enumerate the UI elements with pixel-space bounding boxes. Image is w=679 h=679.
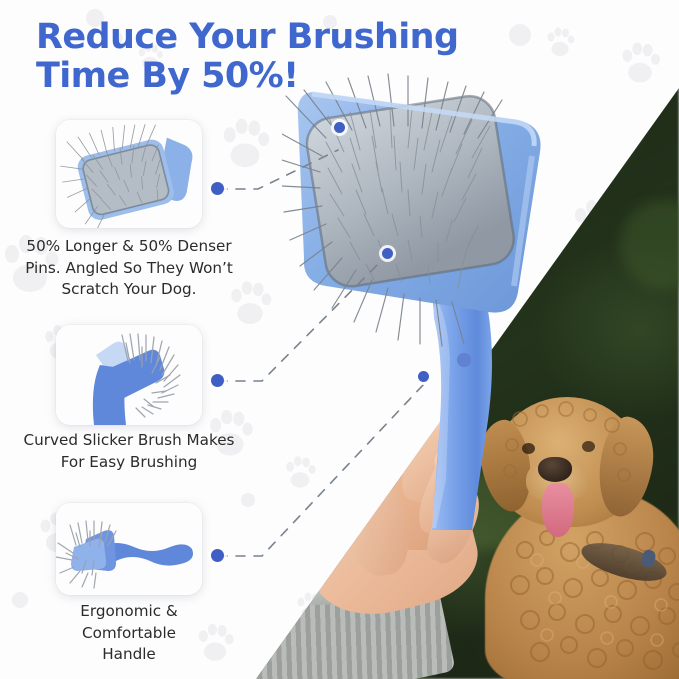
product-dot-pins	[334, 122, 345, 133]
caption-line: Pins. Angled So They Won’t	[4, 258, 254, 280]
feature-card-pins[interactable]	[56, 120, 202, 228]
feature-card-handle[interactable]	[56, 503, 202, 595]
caption-line: Ergonomic &	[4, 601, 254, 623]
connector-dot-feature-1	[211, 182, 224, 195]
headline-line-1: Reduce Your Brushing	[36, 18, 458, 57]
page-title: Reduce Your Brushing Time By 50%!	[36, 18, 458, 96]
feature-caption-pins: 50% Longer & 50% Denser Pins. Angled So …	[4, 236, 254, 301]
caption-line: Curved Slicker Brush Makes	[4, 430, 254, 452]
caption-line: 50% Longer & 50% Denser	[4, 236, 254, 258]
feature-image-curved-head	[56, 325, 202, 425]
caption-line: Comfortable	[4, 623, 254, 645]
product-dot-curve	[382, 248, 393, 259]
caption-line: Handle	[4, 644, 254, 666]
product-slicker-brush	[282, 60, 582, 540]
product-dot-handle	[418, 371, 429, 382]
connector-dot-feature-3	[211, 549, 224, 562]
connector-dot-feature-2	[211, 374, 224, 387]
headline-line-2: Time By 50%!	[36, 57, 458, 96]
feature-caption-handle: Ergonomic & Comfortable Handle	[4, 601, 254, 666]
caption-line: Scratch Your Dog.	[4, 279, 254, 301]
infographic-canvas: Reduce Your Brushing Time By 50%!	[0, 0, 679, 679]
feature-caption-curved-head: Curved Slicker Brush Makes For Easy Brus…	[4, 430, 254, 473]
feature-image-handle	[56, 503, 202, 595]
caption-line: For Easy Brushing	[4, 452, 254, 474]
feature-card-curved-head[interactable]	[56, 325, 202, 425]
feature-image-pins	[56, 120, 202, 228]
dog-eye-right	[582, 441, 595, 452]
